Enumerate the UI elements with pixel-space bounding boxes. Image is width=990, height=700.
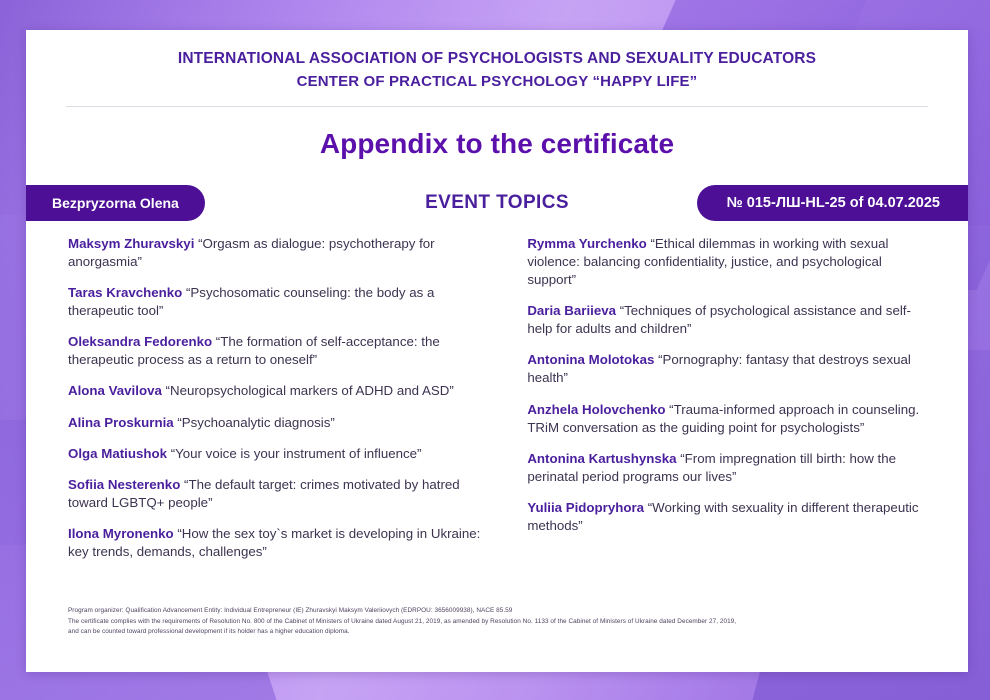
topic-item: Antonina Kartushynska “From impregnation…: [527, 450, 928, 486]
footer-line-3: and can be counted toward professional d…: [68, 627, 938, 638]
topic-speaker: Oleksandra Fedorenko: [68, 334, 212, 349]
header-divider: [66, 106, 928, 107]
certificate-card: INTERNATIONAL ASSOCIATION OF PSYCHOLOGIS…: [26, 30, 968, 672]
topic-speaker: Anzhela Holovchenko: [527, 402, 665, 417]
topic-item: Olga Matiushok “Your voice is your instr…: [68, 445, 497, 463]
topic-item: Yuliia Pidopryhora “Working with sexuali…: [527, 499, 928, 535]
topic-speaker: Sofiia Nesterenko: [68, 477, 180, 492]
topic-speaker: Olga Matiushok: [68, 446, 167, 461]
topic-speaker: Maksym Zhuravskyi: [68, 236, 194, 251]
certificate-page: INTERNATIONAL ASSOCIATION OF PSYCHOLOGIS…: [0, 0, 990, 700]
topic-title: “Neuropsychological markers of ADHD and …: [162, 383, 454, 398]
topic-item: Taras Kravchenko “Psychosomatic counseli…: [68, 284, 497, 320]
topic-speaker: Ilona Myronenko: [68, 526, 174, 541]
topics-column-right: Rymma Yurchenko “Ethical dilemmas in wor…: [527, 235, 928, 574]
topics-section: Maksym Zhuravskyi “Orgasm as dialogue: p…: [26, 235, 968, 574]
topic-speaker: Alina Proskurnia: [68, 415, 174, 430]
topic-title: “Psychoanalytic diagnosis”: [174, 415, 335, 430]
topic-item: Alona Vavilova “Neuropsychological marke…: [68, 382, 497, 400]
topics-column-left: Maksym Zhuravskyi “Orgasm as dialogue: p…: [68, 235, 497, 574]
footer-line-2: The certificate complies with the requir…: [68, 617, 938, 628]
topic-item: Alina Proskurnia “Psychoanalytic diagnos…: [68, 414, 497, 432]
organization-line-2: CENTER OF PRACTICAL PSYCHOLOGY “HAPPY LI…: [66, 71, 928, 94]
footer-line-1: Program organizer: Qualification Advance…: [68, 606, 938, 617]
participant-name-badge: Bezpryzorna Olena: [26, 185, 205, 221]
organization-line-1: INTERNATIONAL ASSOCIATION OF PSYCHOLOGIS…: [66, 47, 928, 71]
topic-speaker: Daria Bariieva: [527, 303, 616, 318]
topic-item: Anzhela Holovchenko “Trauma-informed app…: [527, 401, 928, 437]
topic-title: “Your voice is your instrument of influe…: [167, 446, 422, 461]
topic-item: Antonina Molotokas “Pornography: fantasy…: [527, 351, 928, 387]
certificate-number-badge: № 015-ЛШ-HL-25 of 04.07.2025: [697, 185, 968, 221]
topic-speaker: Rymma Yurchenko: [527, 236, 646, 251]
topic-speaker: Taras Kravchenko: [68, 285, 182, 300]
topic-item: Ilona Myronenko “How the sex toy`s marke…: [68, 525, 497, 561]
badge-row: EVENT TOPICS Bezpryzorna Olena № 015-ЛШ-…: [26, 185, 968, 221]
topic-item: Rymma Yurchenko “Ethical dilemmas in wor…: [527, 235, 928, 289]
topic-speaker: Antonina Molotokas: [527, 352, 654, 367]
topic-item: Sofiia Nesterenko “The default target: c…: [68, 476, 497, 512]
organization-header: INTERNATIONAL ASSOCIATION OF PSYCHOLOGIS…: [26, 30, 968, 160]
footer-notes: Program organizer: Qualification Advance…: [68, 606, 938, 638]
topic-item: Oleksandra Fedorenko “The formation of s…: [68, 333, 497, 369]
topic-item: Daria Bariieva “Techniques of psychologi…: [527, 302, 928, 338]
topic-speaker: Alona Vavilova: [68, 383, 162, 398]
topic-speaker: Antonina Kartushynska: [527, 451, 676, 466]
topic-speaker: Yuliia Pidopryhora: [527, 500, 644, 515]
page-title: Appendix to the certificate: [66, 128, 928, 160]
topic-item: Maksym Zhuravskyi “Orgasm as dialogue: p…: [68, 235, 497, 271]
